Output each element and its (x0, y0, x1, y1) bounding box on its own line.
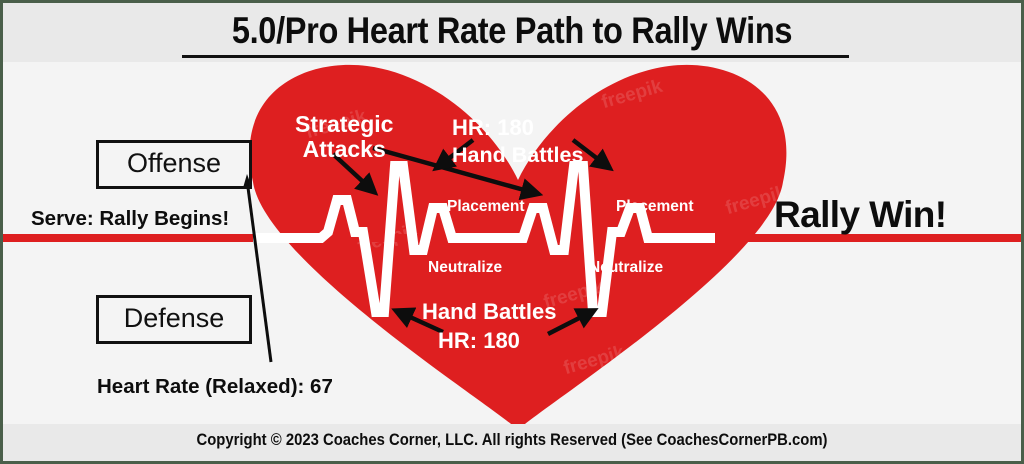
label-strategic-attacks-line2: Attacks (295, 137, 393, 162)
diagram-stage: freepik freepik freepik freepik freepik … (3, 62, 1021, 424)
label-placement-2: Placement (616, 199, 694, 216)
zone-box-defense[interactable]: Defense (96, 295, 252, 344)
label-hr-top: HR: 180 (452, 116, 534, 140)
heart-rate-relaxed-label: Heart Rate (Relaxed): 67 (97, 375, 333, 399)
zone-label-offense: Offense (127, 148, 221, 178)
label-strategic-attacks: Strategic Attacks (295, 112, 393, 162)
rally-win-label: Rally Win! (774, 194, 947, 236)
label-neutralize-1: Neutralize (428, 260, 502, 277)
zone-label-defense: Defense (124, 303, 225, 333)
copyright-text: Copyright © 2023 Coaches Corner, LLC. Al… (54, 431, 970, 450)
title-underline (182, 55, 849, 58)
zone-box-offense[interactable]: Offense (96, 140, 252, 189)
ecg-waveform (253, 166, 715, 312)
slide-canvas: 5.0/Pro Heart Rate Path to Rally Wins fr… (3, 3, 1021, 461)
label-placement-1: Placement (447, 199, 525, 216)
title-band: 5.0/Pro Heart Rate Path to Rally Wins (3, 3, 1021, 62)
label-hand-battles-top: Hand Battles (452, 144, 583, 167)
footer-band: Copyright © 2023 Coaches Corner, LLC. Al… (3, 424, 1021, 461)
label-hr-bottom: HR: 180 (438, 329, 520, 353)
label-strategic-attacks-line1: Strategic (295, 112, 393, 137)
label-hand-battles-bottom: Hand Battles (422, 300, 556, 324)
serve-label: Serve: Rally Begins! (31, 207, 229, 231)
page-title: 5.0/Pro Heart Rate Path to Rally Wins (64, 10, 960, 52)
label-neutralize-2: Neutralize (589, 260, 663, 277)
